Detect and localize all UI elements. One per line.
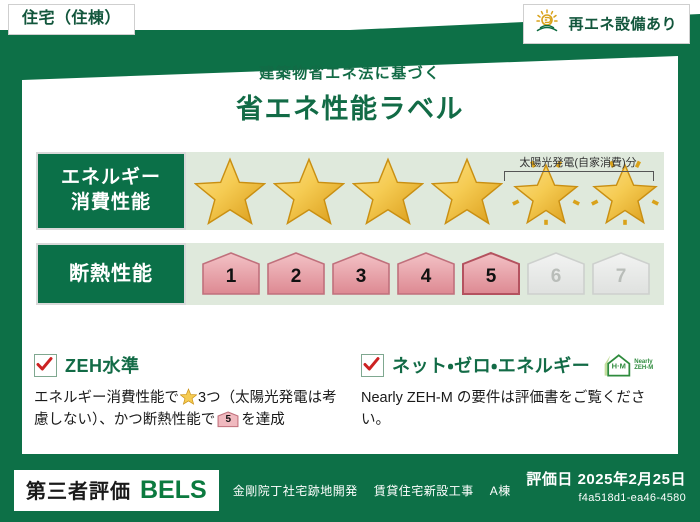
insulation-level-number: 3: [330, 267, 392, 286]
renewable-badge-label: 再エネ設備あり: [568, 13, 677, 34]
label-footer: 第三者評価 BELS 金剛院丁社宅跡地開発 賃貸住宅新設工事 A棟 評価日 20…: [0, 458, 700, 522]
insulation-levels-area: 1 2 3 4: [186, 243, 664, 305]
zeh-checkbox[interactable]: [34, 354, 57, 377]
energy-performance-row: エネルギー 消費性能: [36, 152, 664, 230]
title-subtitle: 建築物省エネ法に基づく: [0, 62, 700, 83]
project-name: 金剛院丁社宅跡地開発: [233, 482, 358, 499]
insulation-level-badges: 1 2 3 4: [200, 251, 652, 297]
bels-certification-box: 第三者評価 BELS: [14, 470, 219, 511]
energy-stars-area: 太陽光発電(自家消費)分: [186, 152, 664, 230]
insulation-level-badge: 3: [330, 251, 392, 297]
zehm-caption-line2: ZEH-M: [634, 365, 653, 371]
star-icon: [180, 388, 197, 405]
insulation-level-number: 5: [460, 267, 522, 286]
nearly-zeh-m-house-logo: H·M Nearly ZEH-M: [602, 352, 653, 378]
star-filled: [190, 155, 269, 227]
criteria-columns: ZEH水準 エネルギー消費性能で3つ（太陽光発電は考慮しない）、かつ断熱性能で5…: [34, 352, 670, 432]
energy-label-line2: 消費性能: [71, 191, 151, 216]
energy-label-line1: エネルギー: [61, 166, 161, 191]
insulation-level-number: 6: [525, 267, 587, 286]
evaluation-date: 評価日 2025年2月25日: [526, 468, 686, 489]
solar-portion-bracket: 太陽光発電(自家消費)分: [498, 154, 658, 184]
label-title-block: 建築物省エネ法に基づく 省エネ性能ラベル: [0, 62, 700, 126]
energy-performance-label: 住宅（住棟） 再エネ設備あり 建築物省エ: [0, 0, 700, 522]
house-level-icon: 5: [217, 411, 239, 428]
solar-sun-icon: [534, 9, 560, 38]
evaluation-info: 評価日 2025年2月25日 f4a518d1-ea46-4580: [526, 468, 686, 504]
star-filled: [269, 155, 348, 227]
insulation-performance-label-box: 断熱性能: [36, 243, 186, 305]
bels-logo-text: BELS: [140, 476, 207, 505]
work-name: 賃貸住宅新設工事: [374, 482, 474, 499]
zeh-text-part3: を達成: [241, 412, 285, 428]
star-filled: [348, 155, 427, 227]
title-main: 省エネ性能ラベル: [0, 87, 700, 126]
net-zero-criteria-column: ネット・ゼロ・エネルギー H·M Nearly ZEH-M Nearly ZEH…: [361, 352, 670, 432]
zeh-header: ZEH水準: [34, 352, 343, 378]
project-info: 金剛院丁社宅跡地開発 賃貸住宅新設工事 A棟: [233, 482, 511, 499]
insulation-level-number: 2: [265, 267, 327, 286]
building-name: A棟: [490, 482, 511, 499]
insulation-level-badge: 7: [590, 251, 652, 297]
zeh-description: エネルギー消費性能で3つ（太陽光発電は考慮しない）、かつ断熱性能で5を達成: [34, 387, 343, 432]
energy-performance-label-box: エネルギー 消費性能: [36, 152, 186, 230]
net-zero-header: ネット・ゼロ・エネルギー H·M Nearly ZEH-M: [361, 352, 670, 378]
insulation-level-badge: 1: [200, 251, 262, 297]
net-zero-checkbox[interactable]: [361, 354, 384, 377]
zeh-criteria-column: ZEH水準 エネルギー消費性能で3つ（太陽光発電は考慮しない）、かつ断熱性能で5…: [34, 352, 343, 432]
insulation-level-number: 7: [590, 267, 652, 286]
zeh-text-part1: エネルギー消費性能で: [34, 390, 179, 406]
renewable-equipment-badge: 再エネ設備あり: [523, 4, 690, 44]
insulation-level-number: 4: [395, 267, 457, 286]
performance-rows: エネルギー 消費性能: [36, 152, 664, 318]
evaluation-id: f4a518d1-ea46-4580: [526, 492, 686, 504]
house-level-icon-number: 5: [217, 415, 239, 425]
third-party-label: 第三者評価: [26, 475, 131, 504]
insulation-level-badge: 6: [525, 251, 587, 297]
insulation-level-badge: 4: [395, 251, 457, 297]
insulation-level-number: 1: [200, 267, 262, 286]
svg-text:H·M: H·M: [612, 362, 626, 371]
insulation-performance-row: 断熱性能 1 2: [36, 243, 664, 305]
building-type-tag: 住宅（住棟）: [8, 4, 135, 35]
zeh-title: ZEH水準: [65, 352, 140, 378]
insulation-level-badge: 2: [265, 251, 327, 297]
bracket-line: [504, 171, 654, 181]
insulation-label: 断熱性能: [69, 261, 153, 287]
star-filled: [427, 155, 506, 227]
insulation-level-badge: 5: [460, 251, 522, 297]
net-zero-description: Nearly ZEH-M の要件は評価書をご覧ください。: [361, 387, 670, 432]
net-zero-title: ネット・ゼロ・エネルギー: [392, 352, 590, 378]
solar-portion-label: 太陽光発電(自家消費)分: [498, 154, 658, 170]
